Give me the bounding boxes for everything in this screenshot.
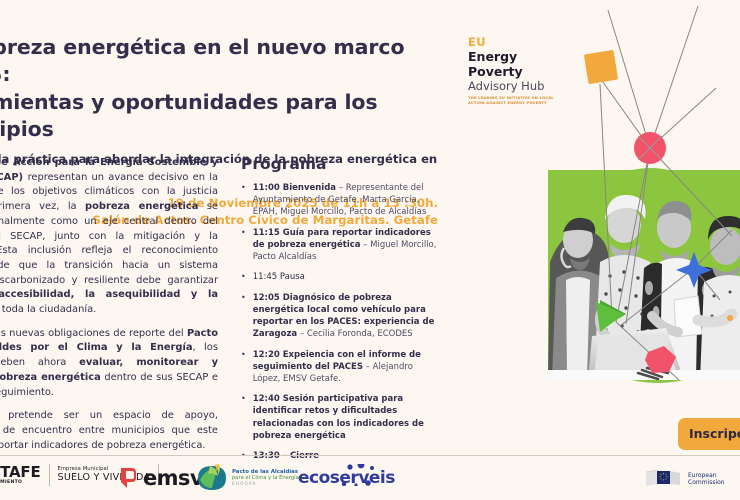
- epah-logo-tagline: THE LEADING EU INITIATIVE ON LOCAL ACTIO…: [468, 96, 564, 106]
- bullet-icon: •: [241, 349, 246, 385]
- description-paragraph-1: Los Planes de Acción para la Energía Sos…: [0, 156, 218, 318]
- bullet-icon: •: [241, 271, 246, 283]
- programme-item: • 12:40 Sesión participativa para identi…: [241, 393, 441, 441]
- desc-p1-bold-2: pobreza energética: [85, 201, 198, 212]
- inscription-button[interactable]: Inscripción: [678, 418, 740, 450]
- epah-logo-eu: EU: [468, 36, 576, 49]
- page-title-line2: herramientas y oportunidades para los mu…: [0, 90, 378, 141]
- programme-item: • 11:45 Pausa: [241, 271, 441, 283]
- desc-p1-text-3: para toda la ciudadanía.: [0, 304, 96, 315]
- epah-logo-title: Energy Poverty: [468, 50, 576, 80]
- logo-ec-line1: European: [688, 472, 725, 480]
- emsv-mark-icon: [118, 467, 138, 489]
- programme-item-dash: –: [363, 362, 373, 372]
- programme-item-title: 12:40 Sesión participativa para identifi…: [253, 394, 424, 440]
- description-body: Los Planes de Acción para la Energía Sos…: [0, 156, 218, 453]
- page-title: La pobreza energética en el nuevo marco …: [0, 34, 440, 143]
- epah-logo-subtitle: Advisory Hub: [468, 80, 576, 94]
- page-title-line1: La pobreza energética en el nuevo marco …: [0, 35, 404, 86]
- programme-item: • 11:00 Bienvenida – Representante del A…: [241, 182, 441, 218]
- eu-flag-icon: [645, 468, 683, 490]
- desc-p2-text-1: En virtud de las nuevas obligaciones de …: [0, 328, 187, 339]
- people-photo: [548, 170, 740, 380]
- programme-item-title: 11:45 Pausa: [253, 272, 305, 282]
- logo-pacto-alcaldias: Pacto de las Alcaldías para el Clima y l…: [196, 464, 299, 492]
- logo-getafe-sub: AYUNTAMIENTO: [0, 481, 41, 486]
- pacto-leaf-icon: [196, 464, 228, 492]
- programme-item: • 12:05 Diagnósico de pobreza energética…: [241, 292, 441, 340]
- programme-heading: Programa: [241, 155, 441, 173]
- poster-canvas: EU Energy Poverty Advisory Hub THE LEADI…: [0, 0, 740, 500]
- programme-item-dash: –: [297, 329, 307, 339]
- programme-item: • 12:20 Expeiencia con el informe de seg…: [241, 349, 441, 385]
- logo-european-commission: European Commission: [645, 468, 725, 490]
- programme-item: • 11:15 Guía para reportar indicadores d…: [241, 227, 441, 263]
- desc-p1-text-2: se incorpora formalmente como un eje cen…: [0, 201, 218, 300]
- logo-emsv-wordmark: emsv: [143, 468, 203, 489]
- programme-section: Programa • 11:00 Bienvenida – Representa…: [241, 155, 441, 462]
- programme-item-title: 11:00 Bienvenida: [253, 183, 336, 193]
- epah-logo: EU Energy Poverty Advisory Hub THE LEADI…: [468, 36, 576, 106]
- description-paragraph-2: En virtud de las nuevas obligaciones de …: [0, 327, 218, 401]
- logo-divider: [49, 464, 50, 486]
- programme-item-dash: –: [336, 183, 346, 193]
- logo-ecoserveis: ecoserveis: [298, 468, 395, 487]
- ecoserveis-dots-icon: [298, 464, 394, 486]
- logo-pacto-line2: para el Clima y la Energía: [232, 475, 299, 481]
- bullet-icon: •: [241, 292, 246, 340]
- logo-emsv: emsv: [118, 467, 203, 489]
- bullet-icon: •: [241, 227, 246, 263]
- description-paragraph-3: Esta jornada pretende ser un espacio de …: [0, 409, 218, 453]
- bullet-icon: •: [241, 182, 246, 218]
- programme-item-dash: –: [361, 240, 371, 250]
- logo-pacto-line3: EUROPA: [232, 482, 299, 487]
- logo-getafe-name: GETAFE: [0, 463, 41, 481]
- logo-ec-line2: Commission: [688, 479, 725, 487]
- programme-item-speaker: Cecilia Foronda, ECODES: [307, 329, 413, 339]
- bullet-icon: •: [241, 393, 246, 441]
- footer-logos: GETAFE AYUNTAMIENTO Empresa Municipal SU…: [0, 456, 740, 500]
